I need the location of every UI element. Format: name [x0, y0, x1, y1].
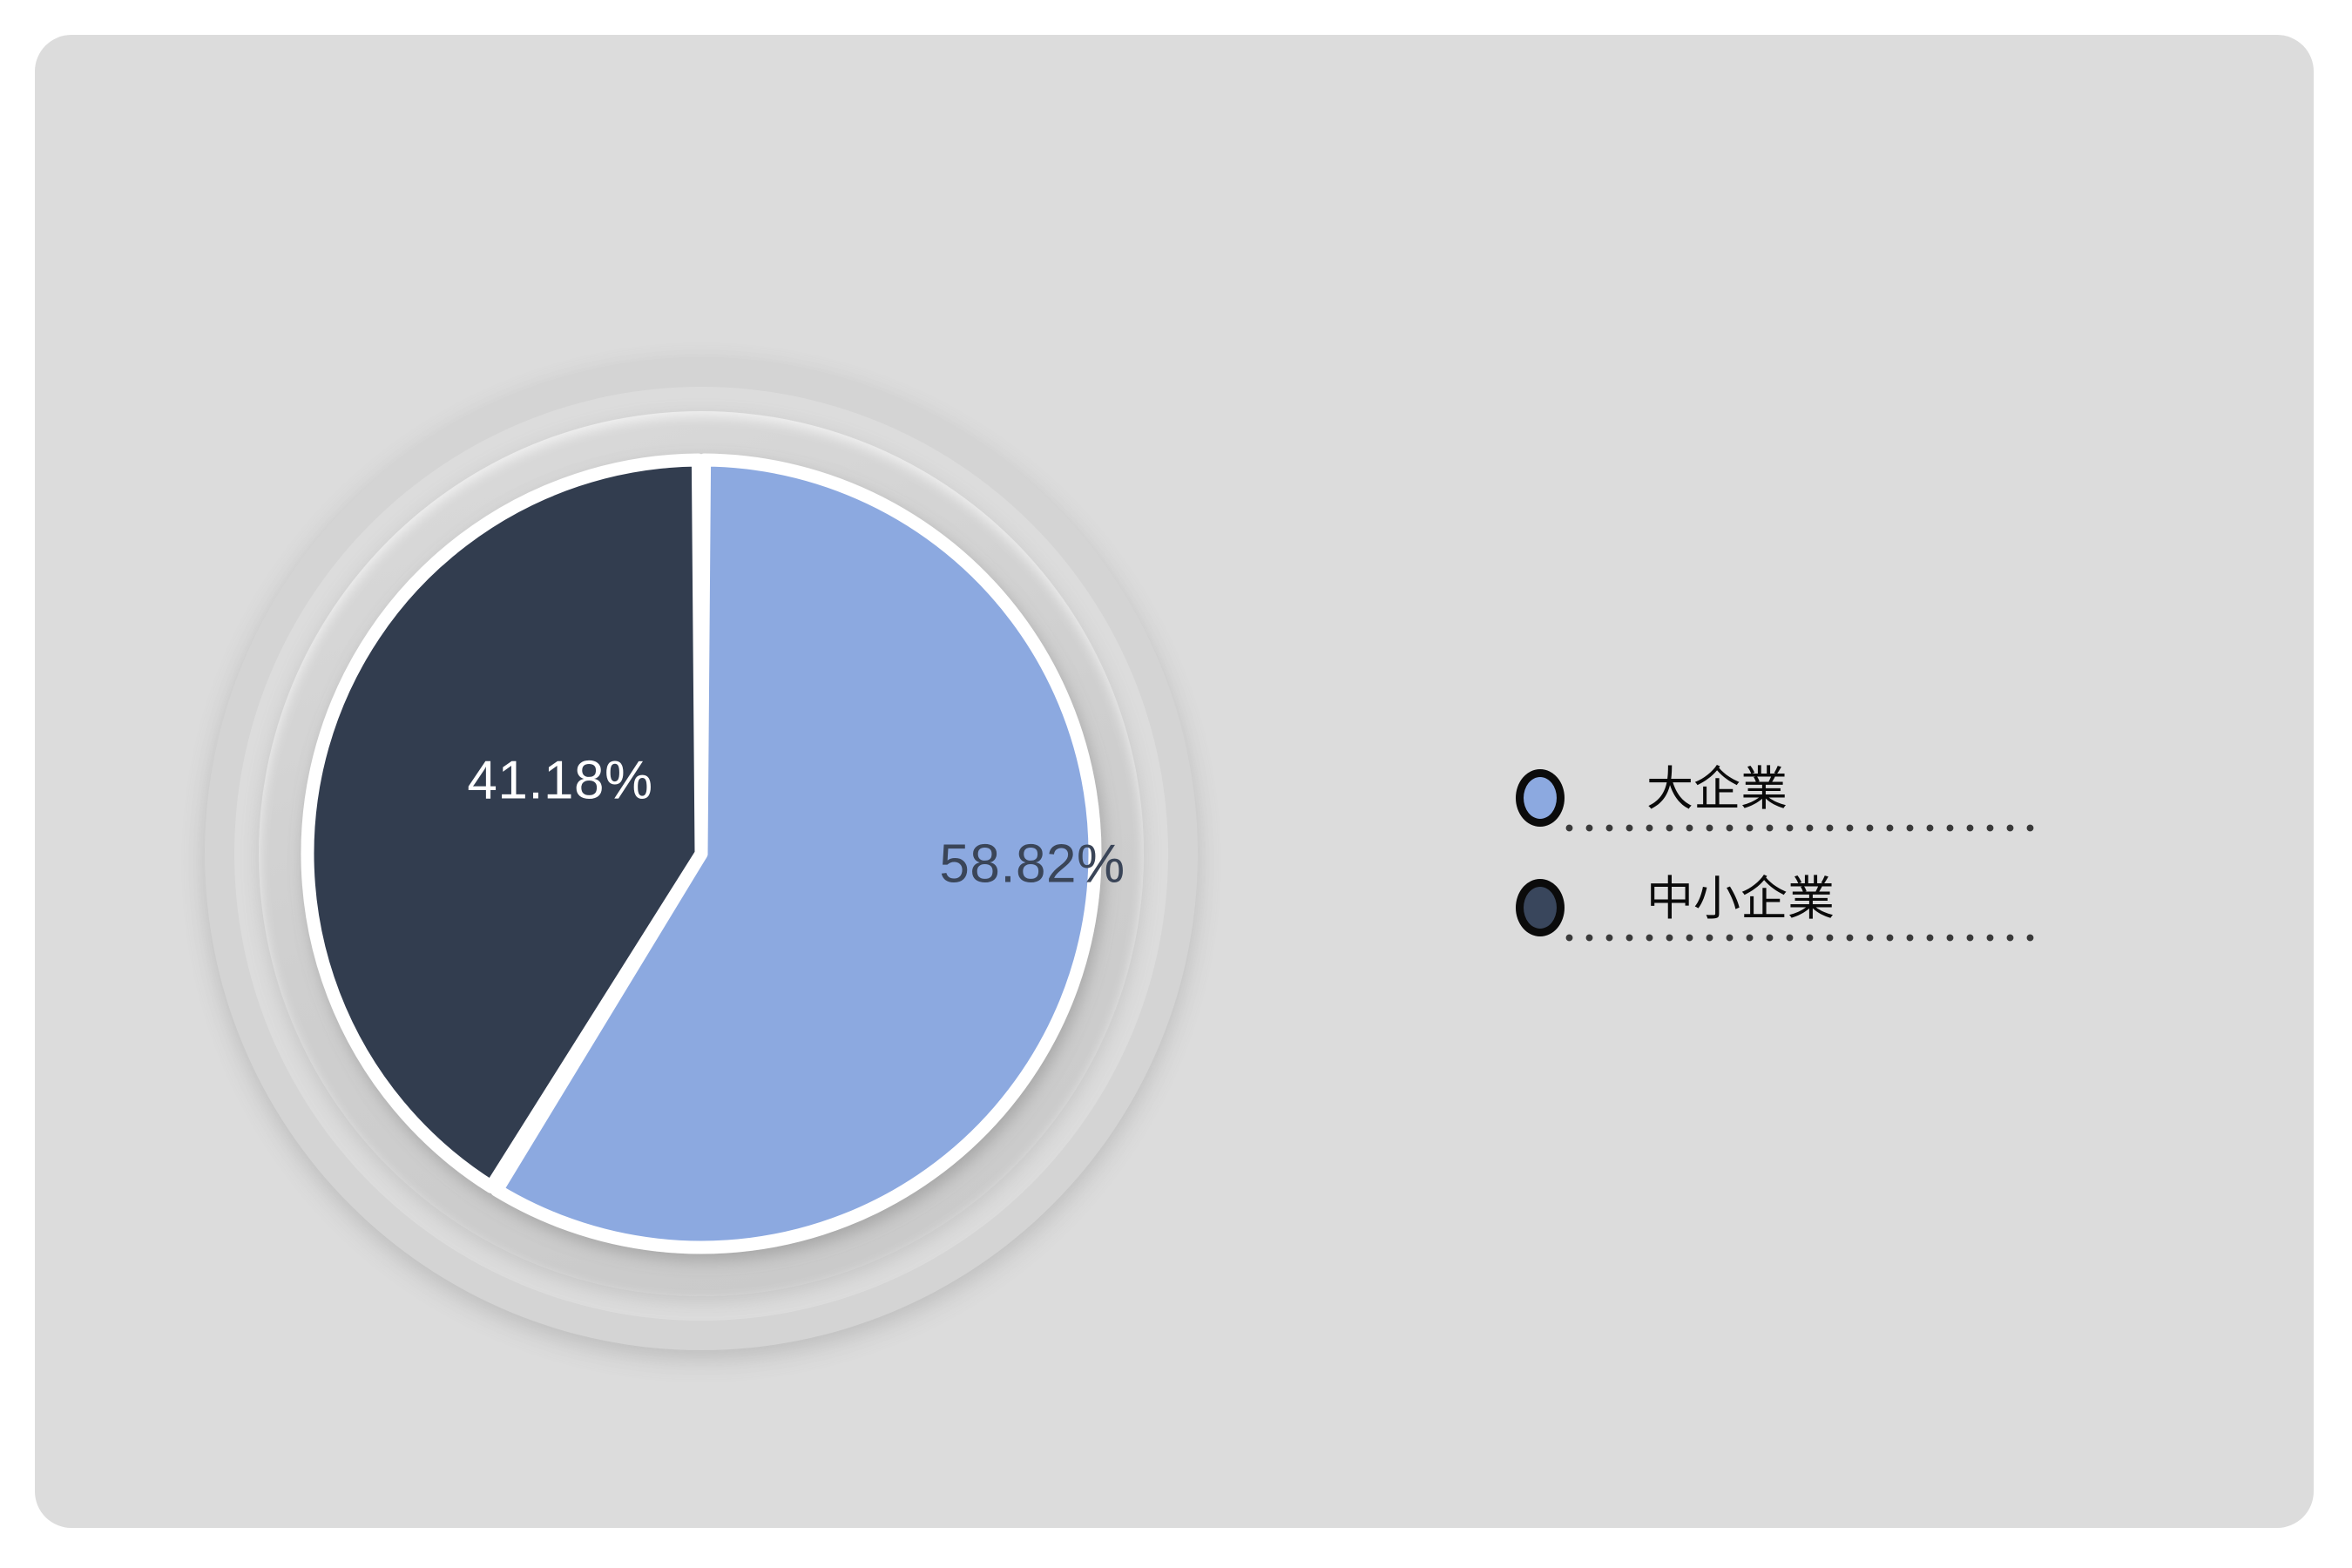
pie-slice-label-large-enterprise: 58.82% — [939, 834, 1125, 894]
legend-item-sme[interactable]: 中小企業 — [1516, 846, 2108, 956]
legend-item-label: 大企業 — [1646, 750, 1788, 819]
pie-slices-svg: 41.18% 58.82% — [144, 296, 1259, 1411]
chart-card: 41.18% 58.82% 大企業 中小企業 — [35, 35, 2314, 1528]
chart-legend: 大企業 中小企業 — [1516, 736, 2108, 956]
legend-marker-circle-icon — [1516, 879, 1565, 936]
legend-item-large-enterprise[interactable]: 大企業 — [1516, 736, 2108, 846]
pie-chart-figure: 41.18% 58.82% — [144, 296, 1259, 1411]
pie-slice-label-sme: 41.18% — [467, 750, 652, 810]
legend-marker-circle-icon — [1516, 769, 1565, 827]
legend-leader-dotted-line — [1559, 823, 2034, 833]
legend-leader-dotted-line — [1559, 933, 2034, 943]
legend-item-label: 中小企業 — [1646, 860, 1835, 929]
